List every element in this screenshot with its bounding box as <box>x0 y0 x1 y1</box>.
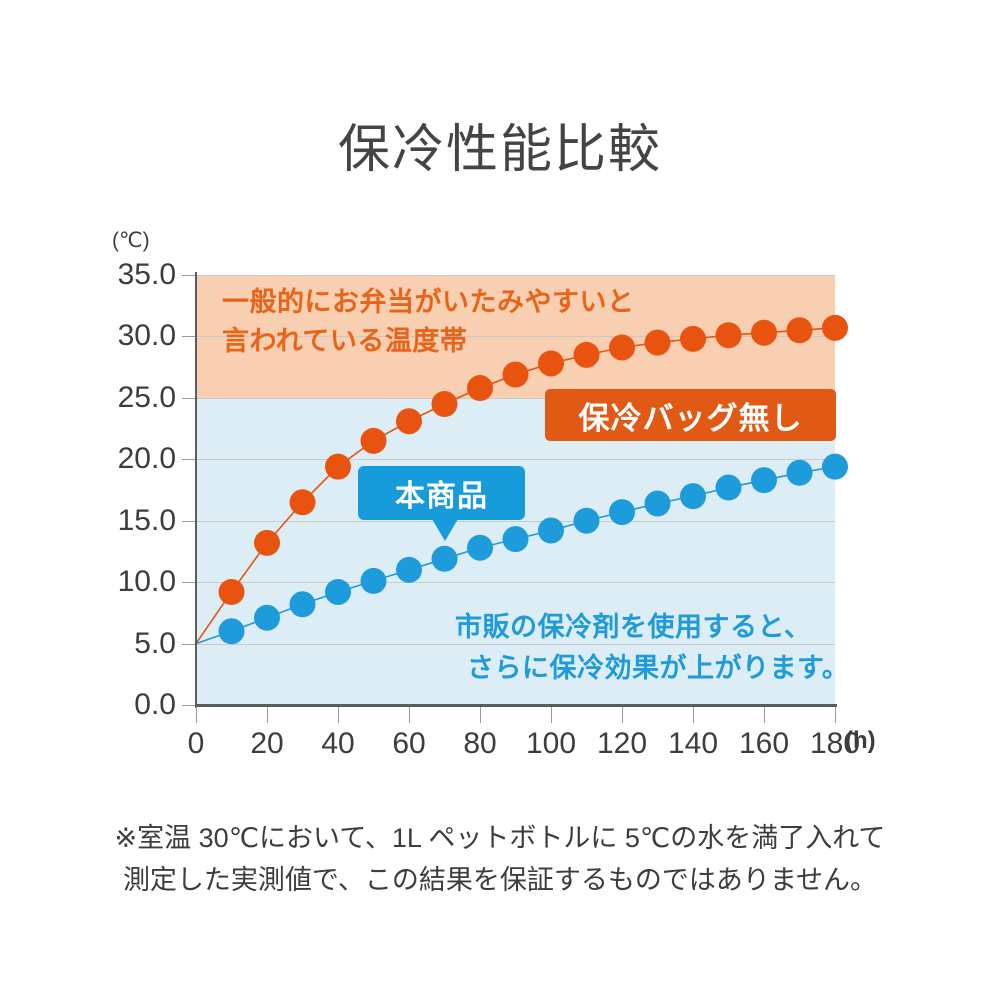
data-point <box>254 530 280 556</box>
callout-blue-arrow-icon <box>432 519 458 541</box>
data-point <box>716 475 742 501</box>
x-axis-tick <box>267 707 268 723</box>
coolant-note-annotation: 市販の保冷剤を使用すると、 さらに保冷効果が上がります。 <box>455 607 849 688</box>
y-axis-tick <box>182 521 195 522</box>
danger-band-annotation-line1: 一般的にお弁当がいたみやすいと <box>222 283 635 322</box>
x-axis-tick-label: 120 <box>597 727 647 761</box>
data-point <box>219 579 245 605</box>
x-axis-tick-label: 180 <box>810 727 860 761</box>
x-axis-tick <box>622 707 623 723</box>
data-point <box>680 326 706 352</box>
data-point <box>716 322 742 348</box>
y-axis-tick-label: 25.0 <box>0 381 176 415</box>
x-axis-tick <box>551 707 552 723</box>
callout-blue-label: 本商品 <box>395 471 488 515</box>
data-point <box>254 605 280 631</box>
x-axis-tick <box>835 707 836 723</box>
data-point <box>432 546 458 572</box>
x-axis-tick <box>693 707 694 723</box>
y-axis-tick <box>182 644 195 645</box>
x-axis-tick-label: 0 <box>188 727 205 761</box>
x-axis-tick-label: 40 <box>321 727 354 761</box>
coolant-note-line2: さらに保冷効果が上がります。 <box>455 648 849 689</box>
y-axis-tick <box>182 275 195 276</box>
x-axis-line <box>195 704 837 707</box>
data-point <box>290 591 316 617</box>
y-axis-tick-label: 0.0 <box>0 688 176 722</box>
callout-this-product: 本商品 <box>358 466 525 520</box>
footnote-line2: 測定した実測値で、この結果を保証するものではありません。 <box>0 860 1000 902</box>
data-point <box>751 320 777 346</box>
data-point <box>503 526 529 552</box>
x-axis-tick-label: 20 <box>250 727 283 761</box>
y-axis-line <box>195 272 197 708</box>
chart-page: 保冷性能比較 (℃) (h) 0.05.010.015.020.025.030.… <box>0 0 1000 1000</box>
data-point <box>290 489 316 515</box>
data-point <box>503 362 529 388</box>
y-axis-tick-label: 30.0 <box>0 319 176 353</box>
data-point <box>680 483 706 509</box>
x-axis-tick-label: 160 <box>739 727 789 761</box>
x-axis-tick <box>338 707 339 723</box>
x-axis-tick <box>480 707 481 723</box>
x-axis-tick-label: 80 <box>463 727 496 761</box>
y-axis-tick-label: 5.0 <box>0 627 176 661</box>
data-point <box>645 491 671 517</box>
data-point <box>787 460 813 486</box>
x-axis-tick <box>764 707 765 723</box>
data-point <box>787 317 813 343</box>
data-point <box>574 508 600 534</box>
footnote-line1: ※室温 30℃において、1L ペットボトルに 5℃の水を満了入れて <box>115 823 886 853</box>
data-point <box>467 375 493 401</box>
callout-no-cooler-bag: 保冷バッグ無し <box>545 389 836 441</box>
danger-band-annotation: 一般的にお弁当がいたみやすいと 言われている温度帯 <box>222 283 635 361</box>
data-point <box>325 454 351 480</box>
y-axis-tick-label: 15.0 <box>0 504 176 538</box>
y-axis-tick <box>182 459 195 460</box>
x-axis-tick-label: 100 <box>526 727 576 761</box>
y-axis-tick-label: 20.0 <box>0 442 176 476</box>
x-axis-tick <box>409 707 410 723</box>
data-point <box>361 568 387 594</box>
danger-band-annotation-line2: 言われている温度帯 <box>222 322 635 361</box>
y-axis-unit-label: (℃) <box>112 228 150 253</box>
data-point <box>432 391 458 417</box>
data-point <box>219 618 245 644</box>
data-point <box>751 467 777 493</box>
footnote: ※室温 30℃において、1L ペットボトルに 5℃の水を満了入れて 測定した実測… <box>0 818 1000 902</box>
data-point <box>361 428 387 454</box>
y-axis-tick-label: 10.0 <box>0 565 176 599</box>
data-point <box>645 330 671 356</box>
y-axis-tick-label: 35.0 <box>0 258 176 292</box>
y-axis-tick <box>182 398 195 399</box>
data-point <box>538 518 564 544</box>
data-point <box>822 454 848 480</box>
coolant-note-line1: 市販の保冷剤を使用すると、 <box>455 607 849 648</box>
x-axis-tick-label: 60 <box>392 727 425 761</box>
callout-orange-label: 保冷バッグ無し <box>579 393 803 438</box>
data-point <box>822 315 848 341</box>
y-axis-tick <box>182 336 195 337</box>
x-axis-tick <box>196 707 197 723</box>
data-point <box>396 557 422 583</box>
data-point <box>467 535 493 561</box>
y-axis-tick <box>182 582 195 583</box>
data-point <box>609 499 635 525</box>
page-title: 保冷性能比較 <box>0 122 1000 179</box>
y-axis-tick <box>182 705 195 706</box>
x-axis-tick-label: 140 <box>668 727 718 761</box>
data-point <box>396 408 422 434</box>
data-point <box>325 579 351 605</box>
